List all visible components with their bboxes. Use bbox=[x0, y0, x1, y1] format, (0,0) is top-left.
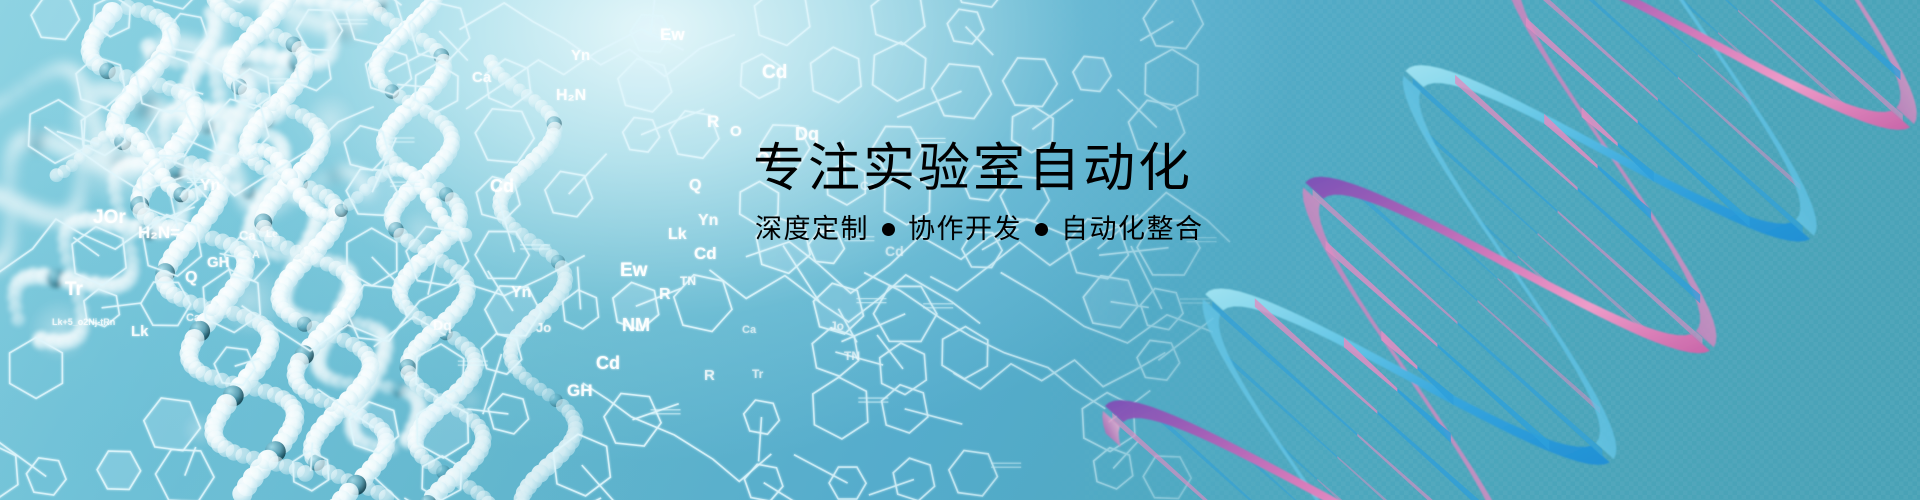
chem-label: JOr bbox=[93, 207, 126, 228]
chem-label: Cd bbox=[762, 62, 787, 83]
chem-label: Lk bbox=[668, 226, 687, 243]
bullet-dot-icon bbox=[1035, 223, 1048, 236]
beaded-dna-graphic bbox=[0, 0, 1920, 500]
chem-label: Q bbox=[185, 269, 197, 286]
chem-label: Lk bbox=[131, 323, 149, 340]
chem-label: H₂N= bbox=[138, 223, 180, 242]
chem-label: Le bbox=[266, 229, 278, 240]
chem-label: Cd bbox=[694, 244, 717, 263]
chem-label: Ca bbox=[239, 228, 256, 243]
chem-label: R bbox=[707, 112, 719, 131]
chem-label: A bbox=[252, 249, 260, 261]
chem-label: Ca bbox=[186, 312, 201, 324]
chem-label: R bbox=[659, 286, 671, 303]
chem-label: GH bbox=[567, 381, 593, 400]
chem-label: Ca bbox=[742, 324, 757, 336]
chem-label: NM bbox=[622, 315, 650, 335]
chem-label: GH bbox=[207, 254, 230, 271]
subheadline-segment-2: 协作开发 bbox=[908, 212, 1022, 246]
chem-label: Yn bbox=[511, 284, 531, 301]
chemical-structure-overlay: .hex{fill:none;stroke:#dff6fb;stroke-wid… bbox=[0, 0, 1920, 500]
chem-label: O bbox=[730, 123, 742, 140]
chem-label: Cd bbox=[490, 176, 514, 196]
chem-label: Lk+5_o2Nj-tRn bbox=[52, 317, 115, 327]
banner-headline: 专注实验室自动化 bbox=[753, 140, 1453, 198]
chem-label: Yn bbox=[200, 177, 220, 194]
chem-label: Jo bbox=[830, 319, 844, 333]
chem-label: Ew bbox=[620, 260, 648, 281]
hero-banner: .hex{fill:none;stroke:#dff6fb;stroke-wid… bbox=[0, 0, 1920, 500]
chem-label: Cd bbox=[596, 353, 620, 373]
chem-label: Yn bbox=[698, 212, 718, 229]
subheadline-segment-1: 深度定制 bbox=[755, 212, 869, 246]
chem-label: H₂N bbox=[556, 87, 586, 104]
bullet-dot-icon bbox=[882, 223, 895, 236]
background-bokeh-blobs bbox=[0, 0, 1920, 500]
chem-label: TN bbox=[680, 274, 696, 288]
chem-label: Ew bbox=[660, 25, 685, 44]
chem-label: Jo bbox=[536, 320, 551, 335]
chem-label: Ca bbox=[472, 69, 492, 86]
chem-label: Dq bbox=[433, 317, 452, 333]
subheadline-segment-3: 自动化整合 bbox=[1061, 212, 1204, 246]
chem-label: Q bbox=[689, 177, 701, 194]
chem-label: Tr bbox=[752, 367, 764, 381]
banner-subheadline: 深度定制 协作开发 自动化整合 bbox=[755, 212, 1453, 246]
chem-label: R bbox=[704, 367, 715, 384]
dna-double-helix-ribbon bbox=[0, 0, 1920, 500]
chem-label: Yn bbox=[571, 47, 590, 64]
chem-label: TN bbox=[844, 349, 860, 363]
background-checker-texture bbox=[0, 0, 1920, 500]
chem-label: Tr bbox=[65, 279, 84, 300]
banner-text-block: 专注实验室自动化 深度定制 协作开发 自动化整合 bbox=[753, 140, 1453, 246]
